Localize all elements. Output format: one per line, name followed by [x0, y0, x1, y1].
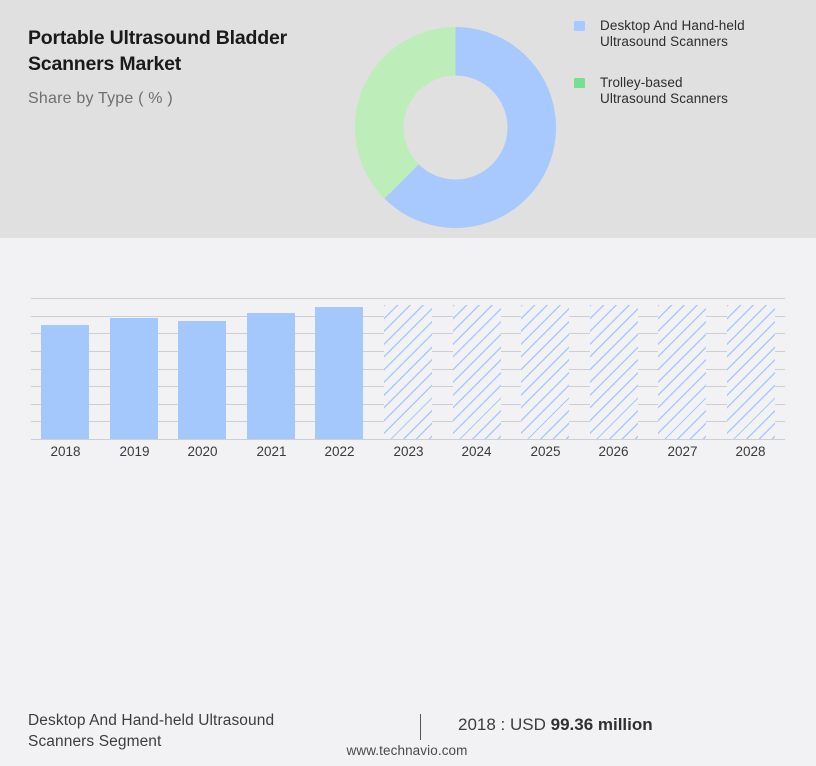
legend: Desktop And Hand-held Ultrasound Scanner… [574, 18, 804, 132]
bar-2020[interactable] [178, 321, 226, 439]
x-axis-label-2020: 2020 [168, 444, 237, 459]
bar-chart-x-axis: 2018201920202021202220232024202520262027… [31, 444, 785, 466]
gridline [31, 439, 785, 440]
bar-2026[interactable] [590, 305, 638, 439]
legend-label-desktop-handheld: Desktop And Hand-held Ultrasound Scanner… [600, 18, 804, 49]
x-axis-label-2028: 2028 [716, 444, 785, 459]
bar-chart-bars [31, 298, 785, 439]
bar-2021[interactable] [247, 313, 295, 439]
x-axis-label-2024: 2024 [442, 444, 511, 459]
page-subtitle: Share by Type ( % ) [28, 90, 348, 108]
legend-swatch-blue [574, 21, 585, 31]
bar-2025[interactable] [521, 305, 569, 439]
bar-2019[interactable] [110, 318, 158, 439]
donut-hole [404, 76, 508, 180]
bar-2028[interactable] [727, 305, 775, 439]
x-axis-label-2022: 2022 [305, 444, 374, 459]
footer-url-text: www.technavio.com [347, 743, 468, 758]
x-axis-label-2025: 2025 [511, 444, 580, 459]
donut-chart [355, 27, 556, 228]
footer-url[interactable]: www.technavio.com [0, 743, 816, 758]
bar-2022[interactable] [315, 307, 363, 439]
header-panel: Portable Ultrasound Bladder Scanners Mar… [0, 0, 816, 238]
bar-chart-panel: 2018201920202021202220232024202520262027… [0, 238, 816, 528]
bar-2023[interactable] [384, 305, 432, 439]
bar-2018[interactable] [41, 325, 89, 439]
x-axis-label-2027: 2027 [648, 444, 717, 459]
footer-value-year: 2018 : USD [458, 715, 551, 734]
footer-divider [420, 714, 421, 740]
bar-2024[interactable] [453, 305, 501, 439]
legend-item-trolley[interactable]: Trolley-based Ultrasound Scanners [574, 75, 804, 109]
legend-swatch-green [574, 78, 585, 88]
footer-value-amount: 99.36 million [551, 715, 653, 734]
legend-label-trolley: Trolley-based Ultrasound Scanners [600, 75, 804, 106]
x-axis-label-2021: 2021 [237, 444, 306, 459]
x-axis-label-2019: 2019 [100, 444, 169, 459]
x-axis-label-2023: 2023 [374, 444, 443, 459]
legend-item-desktop-handheld[interactable]: Desktop And Hand-held Ultrasound Scanner… [574, 18, 804, 52]
infographic-page: Portable Ultrasound Bladder Scanners Mar… [0, 0, 816, 528]
bar-2027[interactable] [658, 305, 706, 439]
donut-chart-svg [355, 27, 556, 228]
x-axis-label-2026: 2026 [579, 444, 648, 459]
x-axis-label-2018: 2018 [31, 444, 100, 459]
page-title: Portable Ultrasound Bladder Scanners Mar… [28, 25, 358, 77]
footer-value: 2018 : USD 99.36 million [458, 715, 653, 735]
